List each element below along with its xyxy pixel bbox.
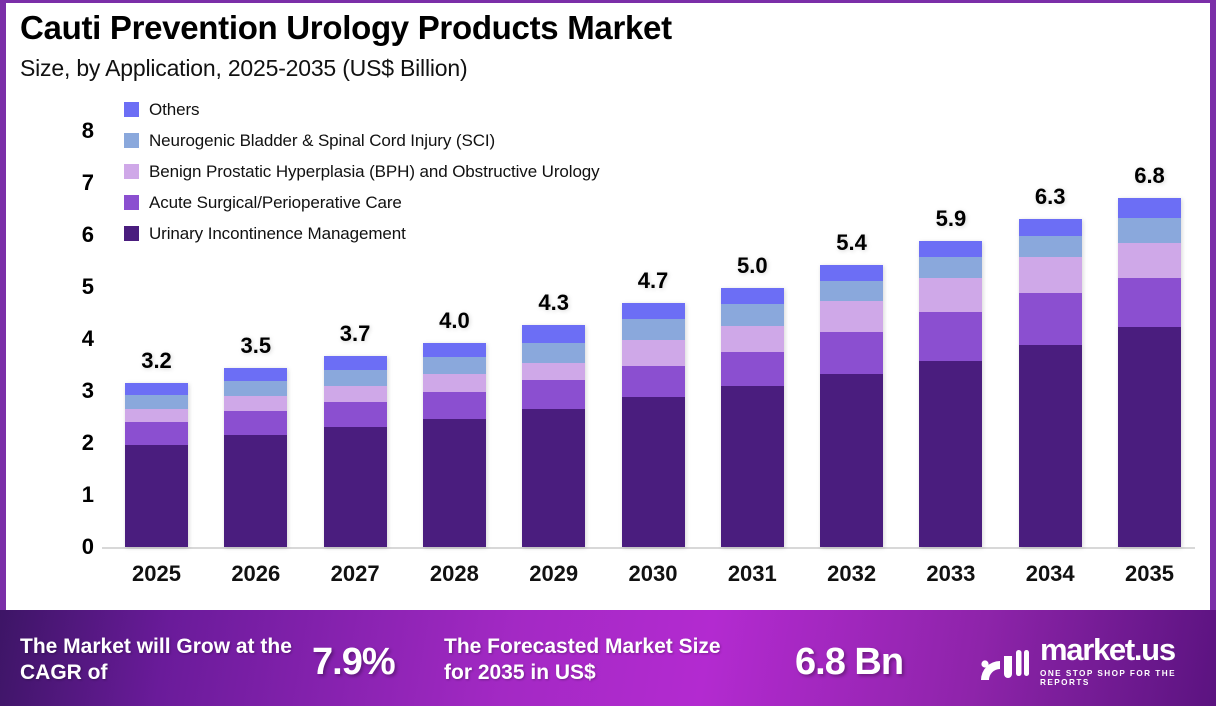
bar-segment[interactable] bbox=[1019, 257, 1082, 293]
bar-segment[interactable] bbox=[919, 241, 982, 257]
logo-tagline: ONE STOP SHOP FOR THE REPORTS bbox=[1040, 669, 1216, 687]
x-axis-tick-label: 2031 bbox=[697, 561, 807, 587]
bar-segment[interactable] bbox=[820, 332, 883, 374]
y-axis-tick-label: 3 bbox=[54, 378, 94, 404]
bar-segment[interactable] bbox=[721, 288, 784, 304]
bar-segment[interactable] bbox=[721, 304, 784, 326]
bar-segment[interactable] bbox=[125, 422, 188, 444]
bar-column[interactable]: 3.7 bbox=[324, 356, 387, 547]
bar-column[interactable]: 5.9 bbox=[919, 241, 982, 547]
bar-segment[interactable] bbox=[1019, 345, 1082, 547]
bar-value-label: 3.5 bbox=[241, 333, 272, 359]
bar-segment[interactable] bbox=[324, 402, 387, 427]
bar-segment[interactable] bbox=[522, 343, 585, 363]
y-axis-tick-label: 4 bbox=[54, 326, 94, 352]
y-axis-tick-label: 2 bbox=[54, 430, 94, 456]
x-axis-line bbox=[102, 547, 1195, 549]
x-axis-tick-label: 2027 bbox=[300, 561, 410, 587]
bar-segment[interactable] bbox=[522, 409, 585, 547]
y-axis-tick-label: 5 bbox=[54, 274, 94, 300]
bar-segment[interactable] bbox=[820, 281, 883, 301]
bar-segment[interactable] bbox=[224, 368, 287, 381]
bar-column[interactable]: 4.3 bbox=[522, 325, 585, 547]
bar-segment[interactable] bbox=[622, 303, 685, 319]
bar-segment[interactable] bbox=[224, 411, 287, 435]
y-axis-tick-label: 1 bbox=[54, 482, 94, 508]
bar-segment[interactable] bbox=[1019, 219, 1082, 235]
bar-value-label: 4.7 bbox=[638, 268, 669, 294]
bar-value-label: 4.3 bbox=[538, 290, 569, 316]
x-axis-tick-label: 2025 bbox=[102, 561, 212, 587]
bar-segment[interactable] bbox=[324, 427, 387, 547]
bar-segment[interactable] bbox=[622, 397, 685, 547]
bar-value-label: 4.0 bbox=[439, 308, 470, 334]
bar-value-label: 3.7 bbox=[340, 321, 371, 347]
bar-value-label: 3.2 bbox=[141, 348, 172, 374]
bar-segment[interactable] bbox=[721, 326, 784, 352]
bar-segment[interactable] bbox=[224, 381, 287, 396]
bar-segment[interactable] bbox=[919, 361, 982, 547]
x-axis-tick-label: 2033 bbox=[896, 561, 1006, 587]
bar-segment[interactable] bbox=[1118, 198, 1181, 218]
bar-segment[interactable] bbox=[622, 319, 685, 340]
logo-name: market.us bbox=[1040, 634, 1216, 665]
bar-segment[interactable] bbox=[224, 396, 287, 412]
bar-segment[interactable] bbox=[1118, 327, 1181, 547]
bar-segment[interactable] bbox=[423, 357, 486, 374]
y-axis-tick-label: 6 bbox=[54, 222, 94, 248]
bar-segment[interactable] bbox=[820, 301, 883, 333]
bar-column[interactable]: 6.3 bbox=[1019, 219, 1082, 547]
footer-cagr-value: 7.9% bbox=[312, 641, 395, 684]
bar-segment[interactable] bbox=[522, 380, 585, 409]
bar-segment[interactable] bbox=[324, 386, 387, 403]
x-axis-tick-label: 2032 bbox=[797, 561, 907, 587]
bar-column[interactable]: 5.4 bbox=[820, 265, 883, 547]
bar-segment[interactable] bbox=[1118, 243, 1181, 278]
bar-value-label: 5.9 bbox=[936, 206, 967, 232]
x-axis-tick-label: 2034 bbox=[995, 561, 1105, 587]
footer-size-label: The Forecasted Market Size for 2035 in U… bbox=[444, 634, 744, 685]
footer-size-value: 6.8 Bn bbox=[795, 641, 903, 684]
bar-segment[interactable] bbox=[1118, 218, 1181, 243]
bar-segment[interactable] bbox=[125, 395, 188, 409]
bar-segment[interactable] bbox=[721, 386, 784, 547]
bar-value-label: 5.0 bbox=[737, 253, 768, 279]
x-axis-tick-label: 2035 bbox=[1095, 561, 1205, 587]
bar-segment[interactable] bbox=[1118, 278, 1181, 327]
x-axis-tick-label: 2030 bbox=[598, 561, 708, 587]
bar-segment[interactable] bbox=[423, 374, 486, 392]
bar-segment[interactable] bbox=[423, 419, 486, 547]
footer-cagr-label: The Market will Grow at the CAGR of bbox=[20, 634, 310, 685]
bar-segment[interactable] bbox=[125, 445, 188, 547]
bar-value-label: 6.3 bbox=[1035, 184, 1066, 210]
bar-segment[interactable] bbox=[423, 343, 486, 357]
bar-segment[interactable] bbox=[522, 363, 585, 380]
bar-value-label: 5.4 bbox=[836, 230, 867, 256]
bar-column[interactable]: 5.0 bbox=[721, 288, 784, 547]
footer-banner: The Market will Grow at the CAGR of 7.9%… bbox=[0, 610, 1216, 706]
bar-segment[interactable] bbox=[919, 278, 982, 312]
bar-segment[interactable] bbox=[1019, 293, 1082, 345]
market-us-logo-icon bbox=[978, 640, 1030, 682]
bar-segment[interactable] bbox=[125, 383, 188, 395]
bar-column[interactable]: 4.0 bbox=[423, 343, 486, 547]
bar-value-label: 6.8 bbox=[1134, 163, 1165, 189]
bar-column[interactable]: 4.7 bbox=[622, 303, 685, 547]
bar-segment[interactable] bbox=[423, 392, 486, 419]
stacked-bar-chart: 0123456783.220253.520263.720274.020284.3… bbox=[6, 3, 1216, 709]
bar-segment[interactable] bbox=[721, 352, 784, 386]
bar-segment[interactable] bbox=[919, 257, 982, 278]
y-axis-tick-label: 0 bbox=[54, 534, 94, 560]
market-us-logo: market.us ONE STOP SHOP FOR THE REPORTS bbox=[978, 634, 1216, 687]
bar-column[interactable]: 3.5 bbox=[224, 368, 287, 547]
bar-segment[interactable] bbox=[324, 370, 387, 386]
bar-segment[interactable] bbox=[820, 265, 883, 281]
market-us-logo-text: market.us ONE STOP SHOP FOR THE REPORTS bbox=[1040, 634, 1216, 687]
bar-segment[interactable] bbox=[622, 366, 685, 397]
bar-segment[interactable] bbox=[324, 356, 387, 370]
bar-column[interactable]: 6.8 bbox=[1118, 198, 1181, 547]
bar-segment[interactable] bbox=[125, 409, 188, 422]
x-axis-tick-label: 2028 bbox=[399, 561, 509, 587]
bar-segment[interactable] bbox=[522, 325, 585, 343]
bar-segment[interactable] bbox=[919, 312, 982, 360]
x-axis-tick-label: 2026 bbox=[201, 561, 311, 587]
bar-column[interactable]: 3.2 bbox=[125, 383, 188, 547]
y-axis-tick-label: 8 bbox=[54, 118, 94, 144]
bar-segment[interactable] bbox=[622, 340, 685, 366]
x-axis-tick-label: 2029 bbox=[499, 561, 609, 587]
bar-segment[interactable] bbox=[224, 435, 287, 547]
infographic-card: Cauti Prevention Urology Products Market… bbox=[0, 0, 1216, 706]
bar-segment[interactable] bbox=[820, 374, 883, 547]
bar-segment[interactable] bbox=[1019, 236, 1082, 258]
y-axis-tick-label: 7 bbox=[54, 170, 94, 196]
